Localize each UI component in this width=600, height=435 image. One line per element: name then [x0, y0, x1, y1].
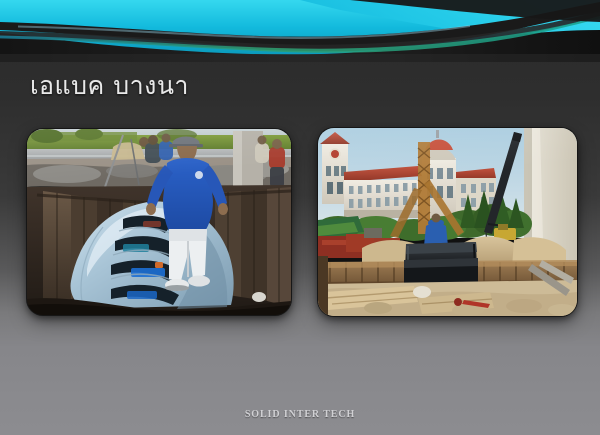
photo-abac-bangna-construction-site[interactable] [318, 128, 577, 316]
photo-septic-tank-installation[interactable] [27, 129, 291, 315]
footer-brand: SOLID INTER TECH [0, 409, 600, 429]
photo-left-reflection [27, 316, 291, 368]
photo-right-scene [318, 128, 577, 316]
photo-right-reflection [318, 317, 577, 363]
photo-left-scene [27, 129, 291, 315]
presentation-slide: เอแบค บางนา [0, 0, 600, 435]
wave-swoosh-decoration [0, 0, 600, 62]
slide-title: เอแบค บางนา [30, 62, 450, 110]
